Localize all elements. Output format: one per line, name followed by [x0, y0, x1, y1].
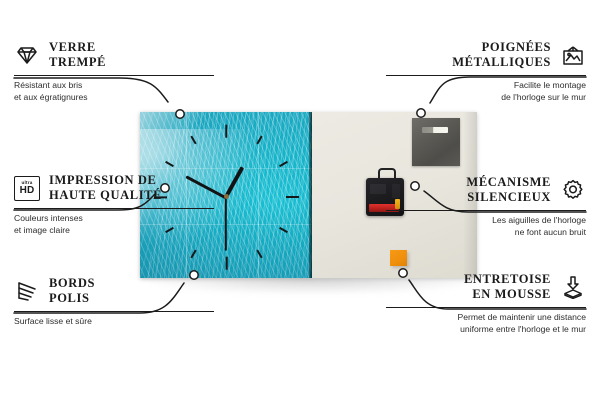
feature-poignees-metalliques[interactable]: POIGNÉES MÉTALLIQUES Facilite le montage… [386, 40, 586, 103]
feature-subtitle: Facilite le montage de l'horloge sur le … [386, 80, 586, 103]
feature-title: ENTRETOISE EN MOUSSE [464, 272, 551, 303]
hanger-slot [422, 127, 448, 133]
feature-title: VERRE TREMPÉ [49, 40, 106, 71]
clock-tick [190, 250, 196, 259]
diamond-icon [14, 42, 40, 68]
gear-icon [560, 177, 586, 203]
ultra-hd-badge-main-label: HD [20, 186, 35, 196]
feature-title: MÉCANISME SILENCIEUX [466, 175, 551, 206]
feature-divider [14, 311, 214, 313]
foam-spacer-pad [390, 250, 407, 266]
ultra-hd-badge: ultra HD [14, 176, 40, 201]
feature-divider [14, 208, 214, 210]
ultra-hd-icon: ultra HD [14, 175, 40, 201]
clock-tick [279, 161, 288, 167]
clock-tick [225, 124, 227, 137]
feature-mecanisme-silencieux[interactable]: MÉCANISME SILENCIEUX Les aiguilles de l'… [386, 175, 586, 238]
feature-divider [386, 307, 586, 309]
feature-subtitle: Les aiguilles de l'horloge ne font aucun… [386, 215, 586, 238]
product-infographic: VERRE TREMPÉ Résistant aux bris et aux é… [0, 0, 600, 400]
clock-center-cap [224, 194, 229, 199]
feature-subtitle: Résistant aux bris et aux égratignures [14, 80, 214, 103]
feature-title: POIGNÉES MÉTALLIQUES [452, 40, 551, 71]
polished-edges-icon [14, 278, 40, 304]
feature-divider [386, 210, 586, 212]
feature-divider [14, 75, 214, 77]
feature-subtitle: Permet de maintenir une distance uniform… [386, 312, 586, 335]
clock-second-hand [225, 197, 227, 251]
clock-tick [190, 135, 196, 144]
foam-spacer-icon [560, 274, 586, 300]
feature-subtitle: Couleurs intenses et image claire [14, 213, 214, 236]
feature-verre-trempe[interactable]: VERRE TREMPÉ Résistant aux bris et aux é… [14, 40, 214, 103]
feature-header: POIGNÉES MÉTALLIQUES [386, 40, 586, 71]
mechanism-detail-left [370, 184, 386, 194]
clock-tick [165, 161, 174, 167]
feature-header: ultra HD IMPRESSION DE HAUTE QUALITÉ [14, 173, 214, 204]
metal-hanger-plate [412, 118, 460, 166]
feature-divider [386, 75, 586, 77]
feature-header: BORDS POLIS [14, 276, 214, 307]
feature-subtitle: Surface lisse et sûre [14, 316, 214, 328]
feature-title: IMPRESSION DE HAUTE QUALITÉ [49, 173, 162, 204]
feature-impression-haute-qualite[interactable]: ultra HD IMPRESSION DE HAUTE QUALITÉ Cou… [14, 173, 214, 236]
feature-title: BORDS POLIS [49, 276, 95, 307]
feature-bords-polis[interactable]: BORDS POLIS Surface lisse et sûre [14, 276, 214, 328]
clock-tick [225, 256, 227, 269]
feature-header: MÉCANISME SILENCIEUX [386, 175, 586, 206]
clock-tick [286, 196, 299, 198]
feature-entretoise-en-mousse[interactable]: ENTRETOISE EN MOUSSE Permet de maintenir… [386, 272, 586, 335]
clock-tick [279, 227, 288, 233]
feature-header: ENTRETOISE EN MOUSSE [386, 272, 586, 303]
picture-hanger-icon [560, 42, 586, 68]
feature-header: VERRE TREMPÉ [14, 40, 214, 71]
glass-seam-horizontal-top [140, 168, 312, 169]
